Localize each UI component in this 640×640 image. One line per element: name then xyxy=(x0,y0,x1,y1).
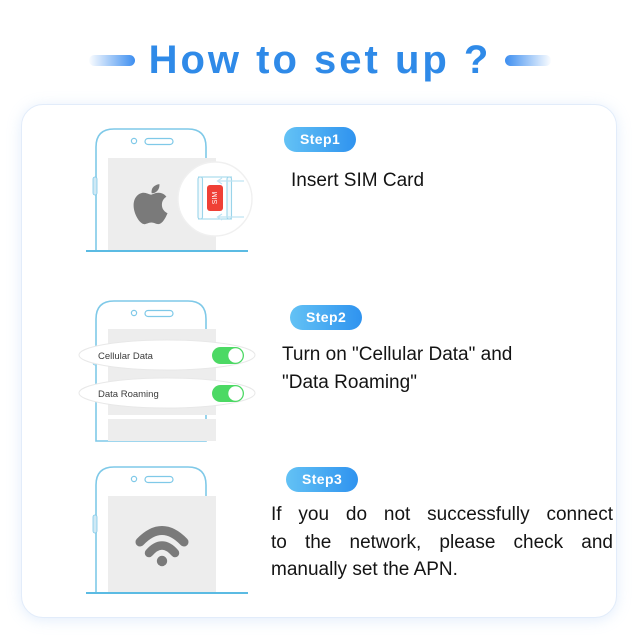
page-header: How to set up ? xyxy=(0,30,640,90)
phone-camera-icon xyxy=(131,138,136,143)
step-2-line-2: "Data Roaming" xyxy=(282,369,602,397)
step-2-badge-wrap: Step2 xyxy=(290,305,362,330)
sim-tray-rail-left-icon xyxy=(198,177,203,219)
phone-side-button-icon xyxy=(93,515,97,533)
step-3-line-2: to the network, please check and xyxy=(271,529,613,557)
step-3-badge-wrap: Step3 xyxy=(286,467,358,492)
phone-speaker-icon xyxy=(145,477,173,483)
title-dash-left-icon xyxy=(89,55,135,66)
step-2-line-1: Turn on "Cellular Data" and xyxy=(282,341,602,369)
step-1-content: Step1 Insert SIM Card xyxy=(262,119,612,289)
step-3-line-1: If you do not successfully connect xyxy=(271,501,613,529)
phone-camera-icon xyxy=(131,476,136,481)
step-2-block: Cellular Data Data Roaming Step2 Turn on… xyxy=(22,293,618,453)
step-1-block: SIM Step1 Insert SIM Card xyxy=(22,119,618,289)
phone-speaker-icon xyxy=(145,139,173,145)
toggle-knob-cellular-data[interactable] xyxy=(228,348,242,362)
step-2-content: Step2 Turn on "Cellular Data" and "Data … xyxy=(262,293,612,453)
page-title: How to set up ? xyxy=(149,40,492,80)
step-3-illustration xyxy=(72,457,262,615)
sim-card-label: SIM xyxy=(212,192,219,205)
step-2-description: Turn on "Cellular Data" and "Data Roamin… xyxy=(282,341,602,396)
step-2-badge: Step2 xyxy=(290,305,362,330)
toggle-row-data-roaming[interactable]: Data Roaming xyxy=(79,378,255,408)
phone-side-button-icon xyxy=(93,177,97,195)
step-3-content: Step3 If you do not successfully connect… xyxy=(262,457,612,615)
step-3-line-3: manually set the APN. xyxy=(271,556,613,584)
phone-sim-tray-illustration: SIM xyxy=(72,119,262,289)
phone-camera-icon xyxy=(131,310,136,315)
step-1-badge-wrap: Step1 xyxy=(284,127,356,152)
step-2-illustration: Cellular Data Data Roaming xyxy=(72,293,262,453)
toggle-row-cellular-data[interactable]: Cellular Data xyxy=(79,340,255,370)
phone-settings-row-4 xyxy=(108,419,216,441)
step-1-description: Insert SIM Card xyxy=(291,167,601,195)
title-dash-right-icon xyxy=(505,55,551,66)
step-1-illustration: SIM xyxy=(72,119,262,289)
phone-speaker-icon xyxy=(145,311,173,317)
toggle-label-cellular-data: Cellular Data xyxy=(98,351,154,362)
phone-wifi-illustration xyxy=(72,457,262,615)
step-3-badge: Step3 xyxy=(286,467,358,492)
phone-settings-toggles-illustration: Cellular Data Data Roaming xyxy=(72,293,262,453)
toggle-knob-data-roaming[interactable] xyxy=(228,386,242,400)
sim-tray-rail-right-icon xyxy=(227,177,232,219)
steps-card: SIM Step1 Insert SIM Card xyxy=(21,104,617,618)
step-3-description: If you do not successfully connect to th… xyxy=(271,501,613,584)
step-3-block: Step3 If you do not successfully connect… xyxy=(22,457,618,615)
toggle-label-data-roaming: Data Roaming xyxy=(98,389,159,400)
step-1-badge: Step1 xyxy=(284,127,356,152)
step-1-line-1: Insert SIM Card xyxy=(291,167,601,195)
